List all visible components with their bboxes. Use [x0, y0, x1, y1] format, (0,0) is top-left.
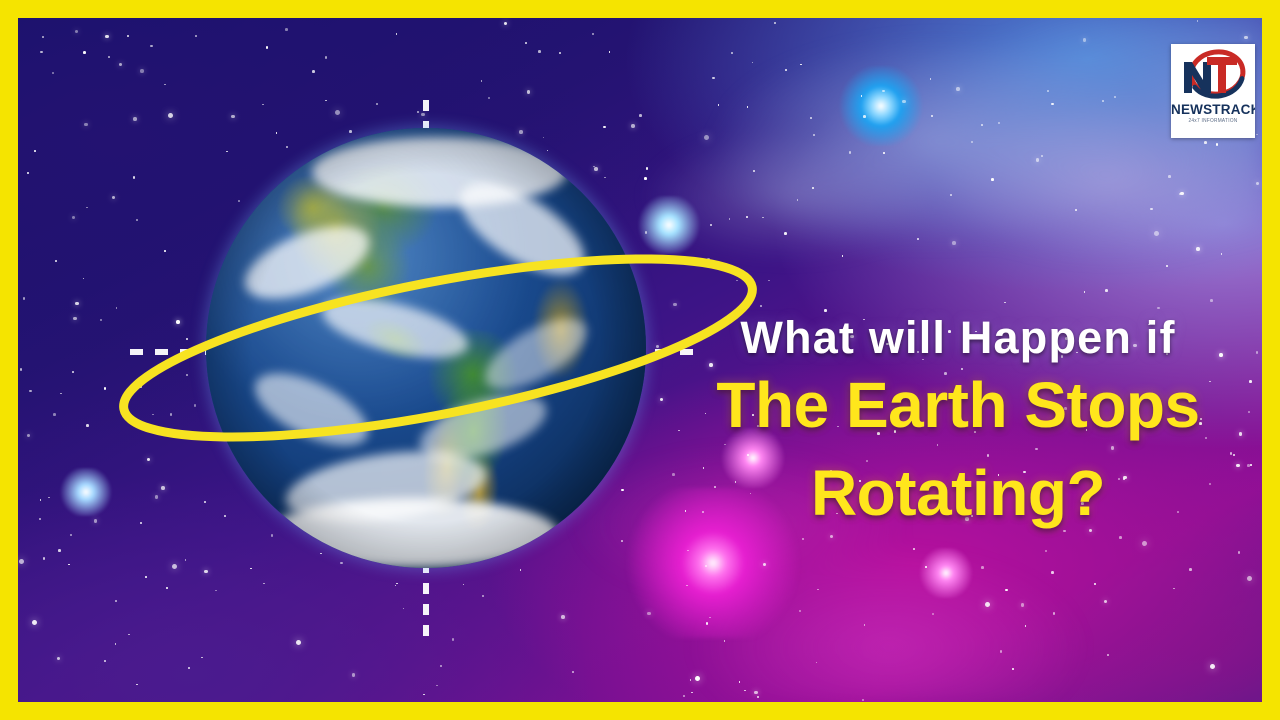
- star: [204, 570, 208, 574]
- star: [75, 30, 79, 34]
- star: [1089, 529, 1093, 533]
- star: [285, 28, 288, 31]
- star: [812, 187, 814, 189]
- star: [19, 559, 24, 564]
- star: [1084, 291, 1086, 293]
- star: [188, 667, 190, 669]
- star: [53, 413, 56, 416]
- star: [1216, 143, 1219, 146]
- star: [800, 64, 802, 66]
- star: [1210, 664, 1215, 669]
- star: [757, 696, 760, 699]
- star: [849, 151, 852, 154]
- star: [712, 77, 715, 80]
- star: [186, 374, 188, 376]
- star: [863, 115, 866, 118]
- star: [27, 434, 31, 438]
- star: [395, 585, 397, 587]
- star: [133, 176, 136, 179]
- star: [152, 414, 154, 416]
- star: [739, 681, 741, 683]
- star: [981, 566, 984, 569]
- star: [917, 238, 919, 240]
- star: [753, 170, 755, 172]
- star: [52, 72, 54, 74]
- star: [861, 95, 863, 97]
- star: [104, 660, 106, 662]
- star: [127, 35, 129, 37]
- star: [1180, 192, 1184, 196]
- star: [883, 152, 885, 154]
- star: [673, 303, 677, 307]
- star: [707, 258, 710, 261]
- star: [84, 123, 88, 127]
- star: [763, 563, 767, 567]
- star: [1221, 253, 1223, 255]
- star: [452, 638, 455, 641]
- video-thumbnail: What will Happen if The Earth Stops Rota…: [0, 0, 1280, 720]
- star: [592, 33, 595, 36]
- star: [705, 565, 708, 568]
- star: [194, 404, 197, 407]
- star: [998, 122, 1001, 125]
- star: [136, 684, 138, 686]
- star: [687, 550, 689, 552]
- star: [195, 35, 197, 37]
- star: [718, 104, 720, 106]
- star: [952, 241, 956, 245]
- headline-line-2: The Earth Stops: [658, 373, 1258, 438]
- star: [706, 622, 709, 625]
- star: [112, 196, 116, 200]
- star: [1000, 650, 1003, 653]
- star: [396, 33, 398, 35]
- star: [161, 486, 165, 490]
- star: [784, 232, 787, 235]
- star: [335, 110, 340, 115]
- star: [352, 673, 356, 677]
- star: [180, 431, 183, 434]
- star: [1204, 141, 1207, 144]
- star: [100, 319, 103, 322]
- star: [1256, 134, 1258, 136]
- star: [170, 413, 173, 416]
- star: [185, 559, 187, 561]
- earth-sphere: [206, 128, 646, 568]
- star: [75, 302, 79, 306]
- star: [646, 167, 649, 170]
- star: [463, 584, 465, 586]
- star: [325, 100, 327, 102]
- star: [1157, 307, 1160, 310]
- star: [266, 46, 269, 49]
- star: [1051, 571, 1054, 574]
- star: [1154, 231, 1159, 236]
- star: [1053, 612, 1056, 615]
- star: [1051, 103, 1054, 106]
- star: [1256, 182, 1260, 186]
- star: [40, 51, 43, 54]
- star: [816, 662, 818, 664]
- star: [864, 624, 866, 626]
- star: [104, 387, 107, 390]
- star: [296, 640, 301, 645]
- star: [231, 115, 235, 119]
- star: [72, 371, 74, 373]
- star: [115, 600, 117, 602]
- star: [1105, 289, 1108, 292]
- star: [1196, 247, 1200, 251]
- star: [108, 56, 110, 58]
- star: [609, 51, 611, 53]
- star: [527, 90, 531, 94]
- star: [60, 393, 62, 395]
- star: [1168, 175, 1171, 178]
- star: [768, 280, 770, 282]
- star: [168, 113, 173, 118]
- star: [27, 172, 30, 175]
- star: [86, 207, 88, 209]
- star: [94, 519, 98, 523]
- star: [83, 278, 85, 280]
- star: [417, 111, 420, 114]
- star: [325, 56, 328, 59]
- star: [710, 224, 713, 227]
- star: [691, 692, 693, 694]
- star: [440, 665, 443, 668]
- star: [43, 557, 46, 560]
- star: [55, 260, 57, 262]
- star: [520, 569, 522, 571]
- star: [172, 564, 177, 569]
- earth-limb-shading: [206, 128, 646, 568]
- star: [956, 87, 960, 91]
- star: [105, 35, 109, 39]
- star: [747, 106, 749, 108]
- star: [140, 522, 142, 524]
- star: [215, 590, 217, 592]
- star: [695, 676, 700, 681]
- star: [73, 317, 77, 321]
- star: [647, 612, 651, 616]
- star: [423, 694, 425, 696]
- star: [68, 564, 70, 566]
- star: [561, 615, 565, 619]
- star: [40, 499, 42, 501]
- star: [186, 338, 188, 340]
- star: [29, 390, 32, 393]
- star: [34, 150, 36, 152]
- newstrack-logo-icon: [1171, 44, 1255, 106]
- star: [150, 45, 153, 48]
- star: [746, 216, 748, 218]
- star: [981, 124, 983, 126]
- star: [639, 114, 642, 117]
- star: [140, 69, 144, 73]
- star: [559, 52, 561, 54]
- star: [119, 63, 123, 67]
- star: [201, 657, 203, 659]
- star: [971, 141, 974, 144]
- star: [481, 80, 483, 82]
- star: [931, 115, 934, 118]
- star: [164, 432, 167, 435]
- star: [1104, 600, 1108, 604]
- star: [176, 320, 180, 324]
- star: [774, 22, 776, 24]
- star: [155, 495, 159, 499]
- star: [830, 535, 834, 539]
- star: [39, 518, 41, 520]
- star: [436, 685, 438, 687]
- headline-line-1: What will Happen if: [658, 314, 1258, 361]
- star: [842, 255, 844, 257]
- star: [70, 534, 73, 537]
- star: [147, 458, 151, 462]
- star: [785, 69, 787, 71]
- star: [1063, 530, 1066, 533]
- star: [729, 218, 731, 220]
- star: [482, 595, 485, 598]
- star: [882, 90, 885, 93]
- star: [72, 216, 76, 220]
- headline-block: What will Happen if The Earth Stops Rota…: [658, 314, 1258, 526]
- star: [504, 22, 508, 26]
- star: [724, 640, 726, 642]
- star: [1021, 603, 1025, 607]
- star: [525, 42, 527, 44]
- star: [1244, 36, 1248, 40]
- star: [1150, 208, 1153, 211]
- star: [1075, 209, 1077, 211]
- star: [376, 103, 378, 105]
- star: [538, 50, 541, 53]
- star: [1036, 158, 1040, 162]
- star: [1005, 589, 1008, 592]
- star: [58, 549, 61, 552]
- star: [86, 424, 89, 427]
- star: [1166, 265, 1168, 267]
- star: [1047, 90, 1049, 92]
- newstrack-logo[interactable]: NEWSTRACK 24x7 INFORMATION: [1171, 44, 1255, 138]
- star: [57, 657, 61, 661]
- star: [752, 62, 754, 64]
- star: [133, 117, 137, 121]
- star: [48, 497, 50, 499]
- star: [1119, 536, 1122, 539]
- star: [813, 134, 815, 136]
- star: [932, 613, 934, 615]
- star: [164, 84, 166, 86]
- star: [862, 699, 864, 701]
- star: [754, 691, 758, 695]
- star: [913, 548, 915, 550]
- star: [762, 217, 764, 219]
- star: [145, 576, 147, 578]
- star: [799, 610, 802, 613]
- star: [116, 307, 118, 309]
- star: [1247, 576, 1252, 581]
- newstrack-wordmark: NEWSTRACK: [1171, 102, 1255, 117]
- star: [488, 97, 491, 100]
- earth-globe: [206, 128, 646, 568]
- star: [23, 297, 26, 300]
- star: [1107, 654, 1109, 656]
- star: [925, 566, 927, 568]
- star: [262, 104, 264, 106]
- star: [1083, 38, 1087, 42]
- star: [166, 587, 168, 589]
- star: [1004, 302, 1006, 304]
- star: [902, 100, 906, 104]
- star: [797, 199, 799, 201]
- star: [32, 620, 37, 625]
- star: [744, 690, 746, 692]
- star: [950, 194, 952, 196]
- star: [83, 51, 86, 54]
- star: [985, 602, 990, 607]
- star: [810, 117, 812, 119]
- headline-line-3: Rotating?: [658, 461, 1258, 526]
- star: [1197, 20, 1199, 22]
- star: [164, 250, 166, 252]
- star: [1045, 550, 1048, 553]
- star: [1173, 588, 1175, 590]
- star: [139, 385, 142, 388]
- star: [1142, 541, 1147, 546]
- star: [20, 368, 23, 371]
- star: [817, 589, 819, 591]
- star: [263, 583, 265, 585]
- newstrack-tagline: 24x7 INFORMATION: [1173, 118, 1253, 124]
- star: [1210, 299, 1213, 302]
- star: [128, 634, 130, 636]
- star: [136, 219, 138, 221]
- star: [760, 305, 762, 307]
- star: [1012, 668, 1014, 670]
- star: [1114, 96, 1116, 98]
- star: [802, 538, 805, 541]
- star: [312, 70, 315, 73]
- star: [1094, 583, 1097, 586]
- star: [704, 135, 709, 140]
- star: [1041, 155, 1043, 157]
- star: [709, 617, 711, 619]
- star: [683, 695, 685, 697]
- star: [930, 78, 932, 80]
- star: [572, 671, 574, 673]
- star: [686, 585, 688, 587]
- thumbnail-canvas: What will Happen if The Earth Stops Rota…: [18, 18, 1262, 702]
- star: [736, 280, 738, 282]
- star: [115, 643, 117, 645]
- star: [1189, 568, 1192, 571]
- star: [991, 178, 994, 181]
- star: [1102, 100, 1104, 102]
- star: [42, 36, 44, 38]
- star: [1238, 551, 1241, 554]
- star: [731, 52, 733, 54]
- star: [403, 608, 405, 610]
- star: [1025, 625, 1027, 627]
- star: [396, 583, 398, 585]
- star: [690, 679, 692, 681]
